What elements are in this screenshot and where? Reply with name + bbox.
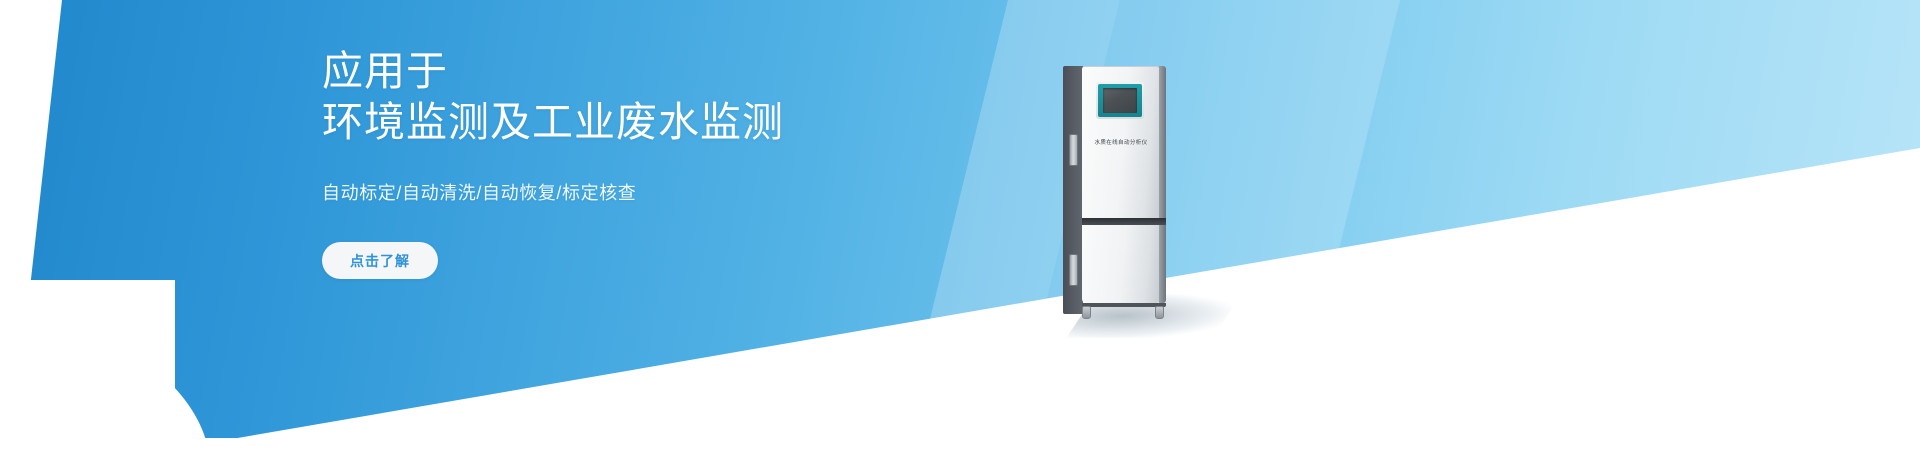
cabinet-divider bbox=[1082, 218, 1166, 225]
screen-display bbox=[1103, 88, 1137, 113]
learn-more-button[interactable]: 点击了解 bbox=[322, 242, 438, 279]
headline-line-1: 应用于 bbox=[322, 46, 1042, 97]
cabinet-upper-handle bbox=[1069, 134, 1078, 166]
background-bottom-strip bbox=[0, 438, 1920, 450]
cabinet-lower-edge bbox=[1159, 225, 1166, 303]
cabinet-lower-handle bbox=[1069, 254, 1078, 286]
cabinet-base bbox=[1082, 303, 1166, 307]
hero-content: 应用于 环境监测及工业废水监测 自动标定/自动清洗/自动恢复/标定核查 点击了解 bbox=[322, 46, 1042, 279]
cabinet-upper-edge bbox=[1159, 66, 1166, 218]
hero-banner: 应用于 环境监测及工业废水监测 自动标定/自动清洗/自动恢复/标定核查 点击了解… bbox=[0, 0, 1920, 450]
caster-wheel-left bbox=[1082, 306, 1091, 319]
headline-line-2: 环境监测及工业废水监测 bbox=[322, 97, 1042, 148]
caster-wheel-right bbox=[1155, 306, 1164, 319]
product-analyzer-image: 水质在线自动分析仪 bbox=[1063, 66, 1183, 316]
hero-subtitle: 自动标定/自动清洗/自动恢复/标定核查 bbox=[322, 179, 1042, 205]
product-label-text: 水质在线自动分析仪 bbox=[1082, 138, 1160, 146]
cabinet-lower-door bbox=[1082, 225, 1160, 303]
